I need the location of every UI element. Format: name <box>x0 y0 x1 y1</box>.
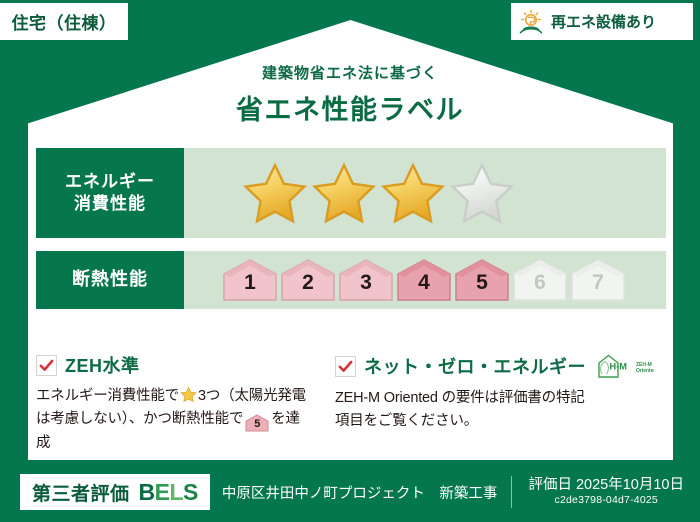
insulation-grade-value: 5 <box>476 272 488 302</box>
star-icon <box>242 161 308 225</box>
note-zeh-text-2: 3つ（太陽光発電 <box>198 388 306 404</box>
footer-bar: 第三者評価 BELS 中原区井田中ノ町プロジェクト 新築工事 評価日 2025年… <box>0 462 700 522</box>
insulation-label-line1: 断熱性能 <box>72 268 148 291</box>
insulation-grade-scale: 1234567 <box>222 258 626 302</box>
star-icon <box>449 161 515 225</box>
evaluation-info: 評価日 2025年10月10日 c2de3798-04d7-4025 <box>511 476 700 508</box>
insulation-grade-badge: 3 <box>338 258 394 302</box>
house-grade-icon: 5 <box>245 414 269 432</box>
star-icon <box>380 161 446 225</box>
evaluation-code: c2de3798-04d7-4025 <box>528 494 684 508</box>
bels-letter-b: B <box>139 479 155 506</box>
renewable-equipment-badge: 再エネ設備あり <box>511 3 693 40</box>
insulation-grade-value: 7 <box>592 272 604 302</box>
note-zeh-header: ZEH水準 <box>36 352 309 378</box>
zeh-m-oriented-logo: H-M ZEH-M Oriented <box>596 352 654 380</box>
page-title: 建築物省エネ法に基づく 省エネ性能ラベル <box>0 62 700 127</box>
category-badge: 住宅（住棟） <box>0 3 128 40</box>
insulation-performance-label: 断熱性能 <box>36 251 184 309</box>
check-icon <box>36 355 57 376</box>
energy-performance-label: エネルギー 消費性能 <box>36 148 184 238</box>
svg-text:Oriented: Oriented <box>636 368 654 374</box>
insulation-performance-row: 断熱性能 1234567 <box>36 251 666 309</box>
bels-wordmark: BELS <box>139 479 198 506</box>
solar-sun-icon <box>517 9 545 35</box>
notes-section: ZEH水準 エネルギー消費性能で3つ（太陽光発電は考慮しない）、かつ断熱性能で5… <box>36 352 668 456</box>
star-rating <box>242 161 515 225</box>
insulation-grade-badge: 4 <box>396 258 452 302</box>
note-nze-title: ネット・ゼロ・エネルギー <box>364 353 586 379</box>
note-net-zero-energy: ネット・ゼロ・エネルギー H-M ZEH-M Oriented Z <box>323 352 668 456</box>
title-main: 省エネ性能ラベル <box>0 88 700 127</box>
insulation-grade-badge: 5 <box>454 258 510 302</box>
insulation-grade-badge: 7 <box>570 258 626 302</box>
bels-letter-l: L <box>169 479 183 506</box>
insulation-grade-badge: 6 <box>512 258 568 302</box>
note-zeh-text-1: エネルギー消費性能で <box>36 388 179 404</box>
bels-letter-s: S <box>183 479 198 506</box>
svg-text:H-M: H-M <box>610 362 628 372</box>
note-nze-text-line2: 項目をご覧ください。 <box>335 413 478 429</box>
energy-label-line2: 消費性能 <box>74 193 146 215</box>
energy-performance-row: エネルギー 消費性能 <box>36 148 666 238</box>
star-icon <box>180 386 197 403</box>
insulation-grade-badge: 2 <box>280 258 336 302</box>
insulation-performance-value: 1234567 <box>184 251 666 309</box>
insulation-grade-value: 6 <box>534 272 546 302</box>
project-name: 中原区井田中ノ町プロジェクト 新築工事 <box>222 482 512 503</box>
energy-performance-value <box>184 148 666 238</box>
note-nze-body: ZEH-M Oriented の要件は評価書の特記項目をご覧ください。 <box>335 387 654 434</box>
energy-performance-label: 住宅（住棟） 再エネ設備あり 建築物省エネ法に基づく 省 <box>0 0 700 522</box>
bels-certification-badge: 第三者評価 BELS <box>20 474 210 510</box>
insulation-grade-value: 4 <box>418 272 430 302</box>
rating-rows: エネルギー 消費性能 断熱性能 1234567 <box>36 148 666 309</box>
check-icon <box>335 356 356 377</box>
note-zeh-standard: ZEH水準 エネルギー消費性能で3つ（太陽光発電は考慮しない）、かつ断熱性能で5… <box>36 352 323 456</box>
bels-jp-label: 第三者評価 <box>32 479 130 506</box>
insulation-grade-badge: 1 <box>222 258 278 302</box>
renewable-badge-label: 再エネ設備あり <box>551 11 656 32</box>
energy-label-line1: エネルギー <box>65 171 155 193</box>
insulation-grade-value: 3 <box>360 272 372 302</box>
note-zeh-body: エネルギー消費性能で3つ（太陽光発電は考慮しない）、かつ断熱性能で5を達成 <box>36 385 309 456</box>
star-icon <box>311 161 377 225</box>
insulation-grade-value: 2 <box>302 272 314 302</box>
evaluation-date: 評価日 2025年10月10日 <box>528 476 684 494</box>
category-badge-label: 住宅（住棟） <box>12 9 117 34</box>
title-subtitle: 建築物省エネ法に基づく <box>0 62 700 83</box>
note-nze-header: ネット・ゼロ・エネルギー H-M ZEH-M Oriented <box>335 352 654 380</box>
bels-letter-e: E <box>155 479 170 506</box>
note-zeh-text-3: は考慮しない）、かつ断熱性能で <box>36 411 243 427</box>
inline-grade-value: 5 <box>245 414 269 435</box>
insulation-grade-value: 1 <box>244 272 256 302</box>
note-nze-text-line1: ZEH-M Oriented の要件は評価書の特記 <box>335 390 585 406</box>
note-zeh-title: ZEH水準 <box>65 352 140 378</box>
